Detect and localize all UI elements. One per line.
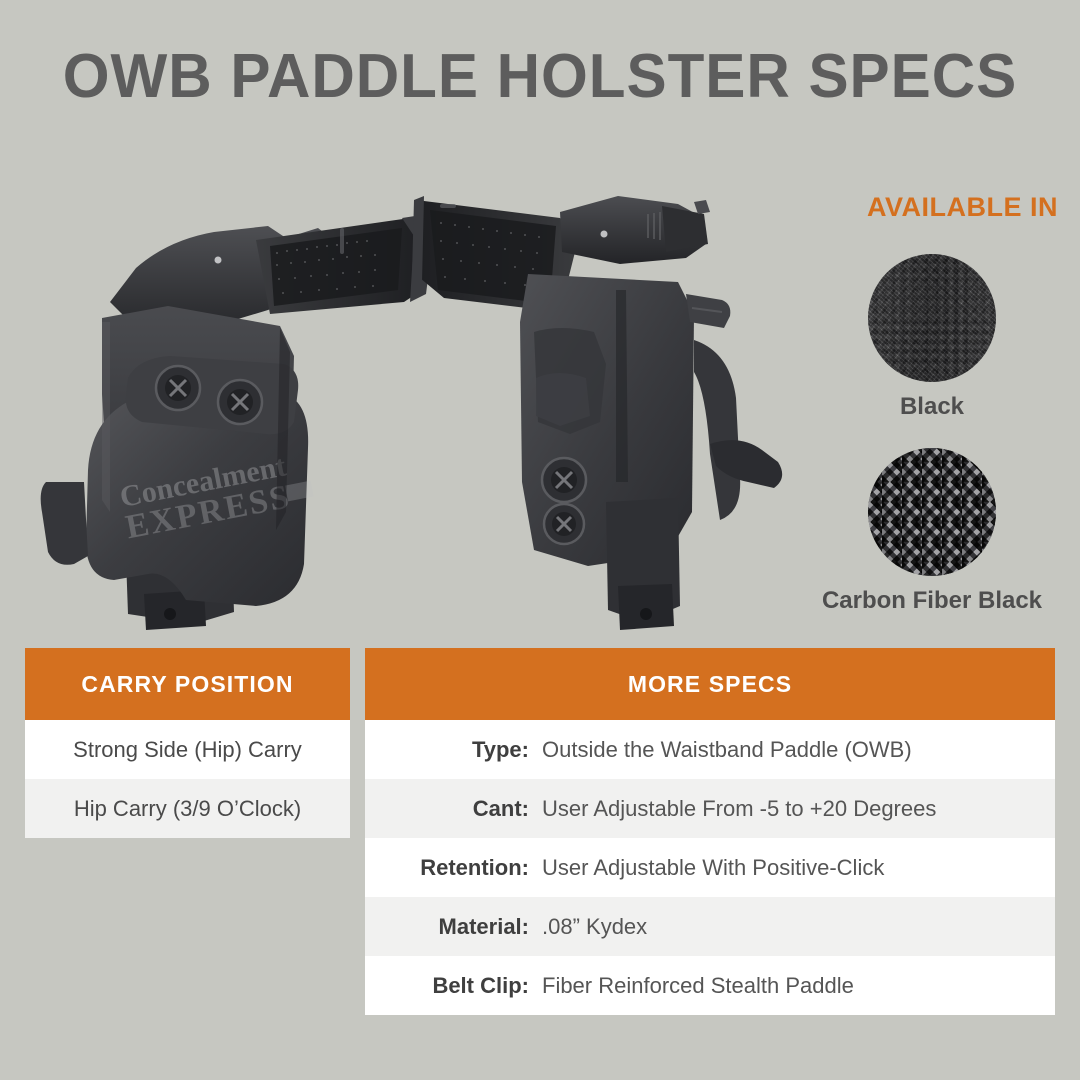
swatch-black: Black [868, 254, 996, 421]
spec-label: Cant: [365, 796, 537, 822]
product-photos: Concealment EXPRESS [0, 178, 810, 638]
spec-label: Type: [365, 737, 537, 763]
spec-value: .08” Kydex [537, 914, 1055, 940]
spec-label: Retention: [365, 855, 537, 881]
carry-position-table: CARRY POSITION Strong Side (Hip) Carry H… [25, 648, 350, 838]
more-specs-header: MORE SPECS [365, 648, 1055, 720]
carbon-fiber-black-swatch [868, 448, 996, 576]
table-row: Belt Clip: Fiber Reinforced Stealth Padd… [365, 956, 1055, 1015]
table-row: Hip Carry (3/9 O’Clock) [25, 779, 350, 838]
carry-position-value: Strong Side (Hip) Carry [73, 737, 302, 763]
spec-value: User Adjustable With Positive-Click [537, 855, 1055, 881]
swatch-black-label: Black [868, 393, 996, 421]
swatch-carbon-fiber-label: Carbon Fiber Black [813, 587, 1051, 615]
table-row: Strong Side (Hip) Carry [25, 720, 350, 779]
holster-back-view [410, 182, 810, 632]
spec-label: Belt Clip: [365, 973, 537, 999]
swatch-carbon-fiber: Carbon Fiber Black [868, 448, 1051, 615]
table-row: Cant: User Adjustable From -5 to +20 Deg… [365, 779, 1055, 838]
table-row: Material: .08” Kydex [365, 897, 1055, 956]
spec-value: Fiber Reinforced Stealth Paddle [537, 973, 1055, 999]
spec-value: User Adjustable From -5 to +20 Degrees [537, 796, 1055, 822]
page-title: OWB PADDLE HOLSTER SPECS [16, 44, 1064, 110]
spec-label: Material: [365, 914, 537, 940]
table-row: Type: Outside the Waistband Paddle (OWB) [365, 720, 1055, 779]
carry-position-header: CARRY POSITION [25, 648, 350, 720]
available-in-heading: AVAILABLE IN [638, 192, 1058, 223]
holster-front-view: Concealment EXPRESS [18, 182, 438, 632]
more-specs-table: MORE SPECS Type: Outside the Waistband P… [365, 648, 1055, 1015]
spec-value: Outside the Waistband Paddle (OWB) [537, 737, 1055, 763]
carry-position-value: Hip Carry (3/9 O’Clock) [74, 796, 301, 822]
table-row: Retention: User Adjustable With Positive… [365, 838, 1055, 897]
black-kydex-swatch [868, 254, 996, 382]
